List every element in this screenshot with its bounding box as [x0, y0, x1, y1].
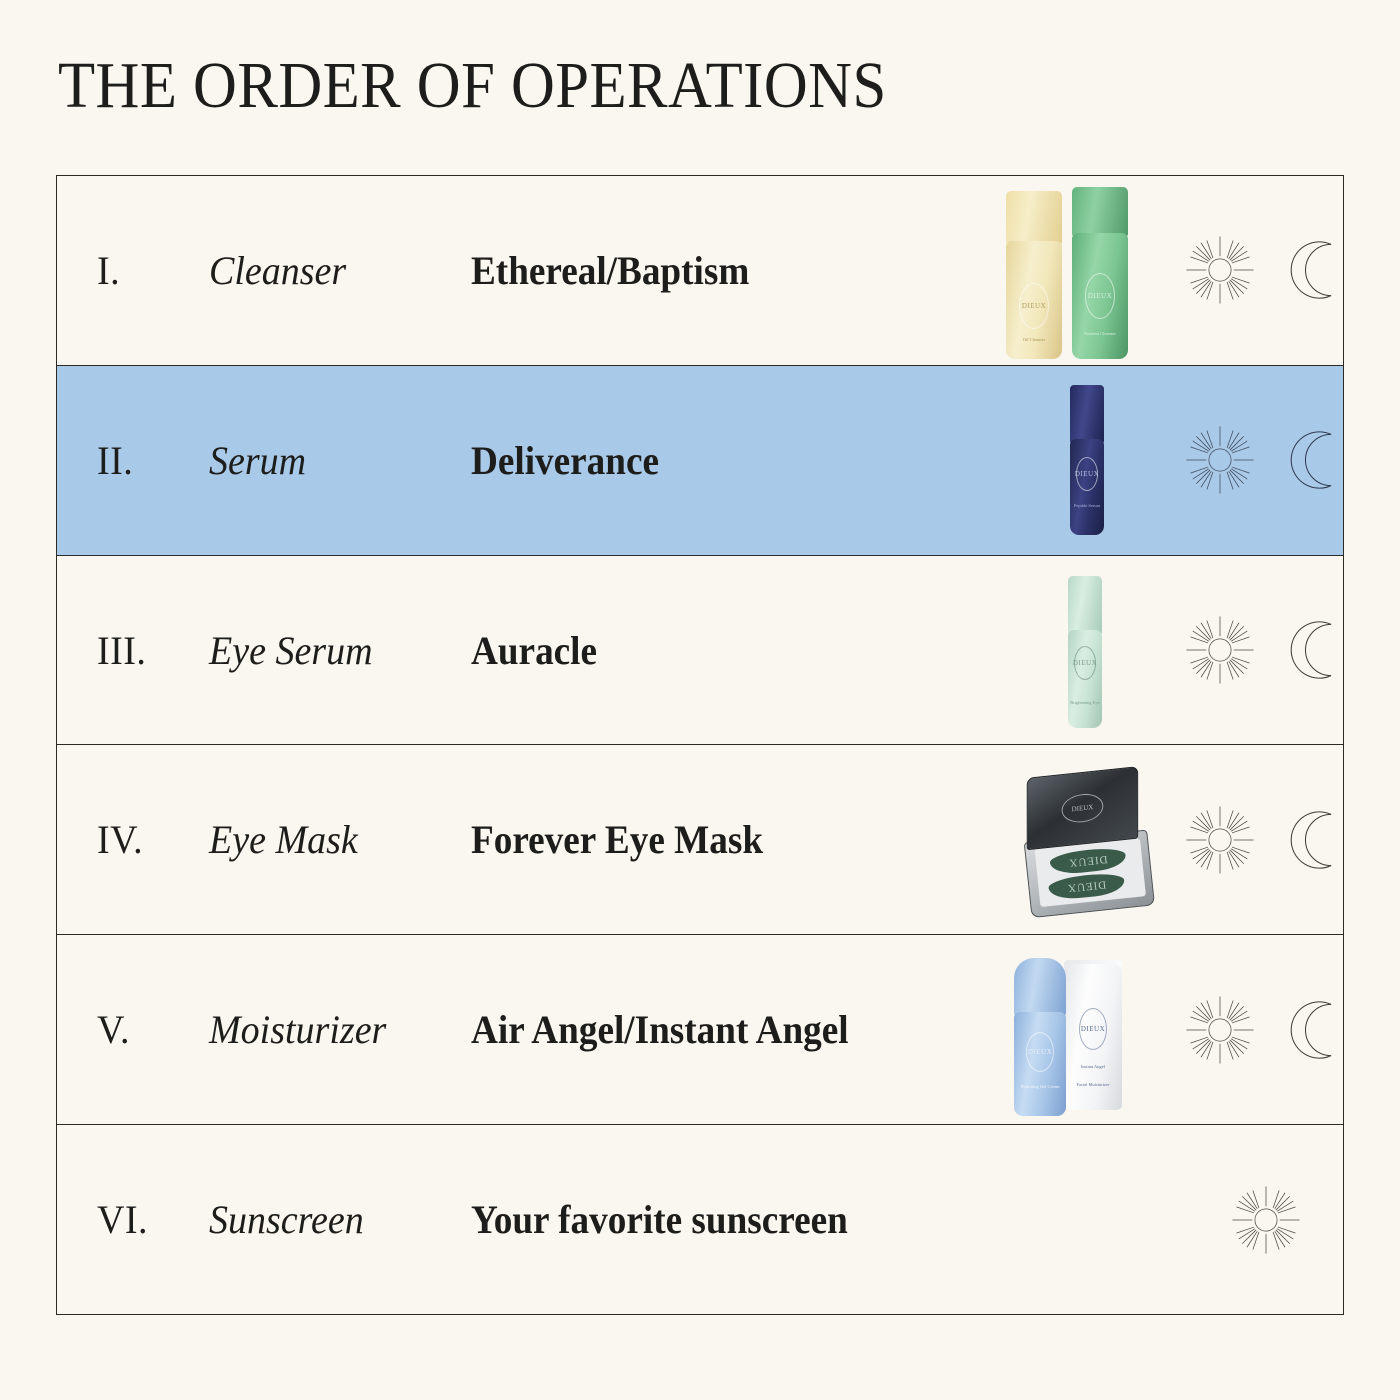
sun-icon: [1183, 803, 1257, 877]
row-product-name: Auracle: [471, 627, 992, 674]
sun-icon: [1229, 1183, 1303, 1257]
time-of-day-group: [1187, 1125, 1343, 1314]
table-row: IV. Eye Mask Forever Eye Mask DIEUX DIEU…: [57, 745, 1343, 935]
brand-logo: DIEUX: [1074, 646, 1096, 680]
eye-patch: DIEUX: [1049, 846, 1127, 876]
bottle-air-angel: DIEUX Hydrating Gel Cream: [1014, 958, 1066, 1116]
brand-logo: DIEUX: [1019, 283, 1049, 329]
eye-patch: DIEUX: [1048, 872, 1126, 902]
brand-logo: DIEUX: [1085, 273, 1115, 319]
brand-logo: DIEUX: [1076, 457, 1098, 491]
product-label-text: Facial Moisturizer: [1076, 1082, 1109, 1088]
moon-icon: [1285, 238, 1343, 302]
bottle-ethereal: DIEUX Oil Cleanser: [1006, 191, 1062, 359]
row-numeral: II.: [97, 437, 211, 484]
moon-icon: [1285, 998, 1343, 1062]
row-category: Sunscreen: [209, 1196, 494, 1243]
time-of-day-group: [1187, 745, 1343, 934]
product-image-serum: DIEUX Peptide Serum: [987, 366, 1187, 555]
time-of-day-group: [1187, 366, 1343, 555]
table-row: I. Cleanser Ethereal/Baptism DIEUX Oil C…: [57, 176, 1343, 366]
sun-icon: [1183, 993, 1257, 1067]
row-numeral: I.: [97, 247, 211, 294]
time-of-day-group: [1187, 556, 1343, 745]
row-product-name: Forever Eye Mask: [471, 816, 992, 863]
product-label-text: Oil Cleanser: [1023, 337, 1046, 343]
sun-icon: [1183, 423, 1257, 497]
product-image-moisturizer: DIEUX Instant Angel Facial Moisturizer D…: [987, 935, 1187, 1124]
routine-table: I. Cleanser Ethereal/Baptism DIEUX Oil C…: [56, 175, 1344, 1315]
product-label-text: Nutrient Cleanser: [1084, 331, 1116, 337]
brand-logo: DIEUX: [1062, 792, 1104, 825]
page-title: THE ORDER OF OPERATIONS: [58, 48, 887, 124]
moon-icon: [1285, 618, 1343, 682]
bottle-deliverance: DIEUX Peptide Serum: [1070, 385, 1104, 535]
bottle-auracle: DIEUX Brightening Eye: [1068, 576, 1102, 728]
row-category: Cleanser: [209, 247, 494, 294]
row-numeral: III.: [97, 627, 211, 674]
bottle-baptism: DIEUX Nutrient Cleanser: [1072, 187, 1128, 359]
row-numeral: V.: [97, 1006, 211, 1053]
row-category: Serum: [209, 437, 494, 484]
table-row: II. Serum Deliverance DIEUX Peptide Seru…: [57, 366, 1343, 556]
brand-logo: DIEUX: [1079, 1008, 1107, 1050]
row-numeral: IV.: [97, 816, 211, 863]
moon-icon: [1285, 808, 1343, 872]
row-product-name: Your favorite sunscreen: [471, 1196, 992, 1243]
brand-logo: DIEUX: [1026, 1032, 1054, 1072]
product-image-cleanser: DIEUX Oil Cleanser DIEUX Nutrient Cleans…: [987, 176, 1187, 365]
tube-instant-angel: DIEUX Instant Angel Facial Moisturizer: [1064, 960, 1122, 1110]
product-label-text: Instant Angel: [1081, 1064, 1105, 1070]
row-product-name: Deliverance: [471, 437, 992, 484]
product-label-text: Peptide Serum: [1074, 503, 1100, 509]
table-row: V. Moisturizer Air Angel/Instant Angel D…: [57, 935, 1343, 1125]
product-label-text: Brightening Eye: [1070, 700, 1100, 706]
table-row: III. Eye Serum Auracle DIEUX Brightening…: [57, 556, 1343, 746]
row-product-name: Ethereal/Baptism: [471, 247, 992, 294]
product-label-text: Hydrating Gel Cream: [1021, 1084, 1060, 1090]
sun-icon: [1183, 613, 1257, 687]
row-category: Moisturizer: [209, 1006, 494, 1053]
time-of-day-group: [1187, 176, 1343, 365]
product-image-eye-mask: DIEUX DIEUX DIEUX: [987, 745, 1187, 934]
moon-icon: [1285, 428, 1343, 492]
table-row: VI. Sunscreen Your favorite sunscreen: [57, 1125, 1343, 1314]
compact-forever-eye-mask: DIEUX DIEUX DIEUX: [1017, 766, 1155, 918]
row-numeral: VI.: [97, 1196, 211, 1243]
infographic-page: THE ORDER OF OPERATIONS I. Cleanser Ethe…: [0, 0, 1400, 1400]
row-product-name: Air Angel/Instant Angel: [471, 1006, 992, 1053]
time-of-day-group: [1187, 935, 1343, 1124]
row-category: Eye Mask: [209, 816, 494, 863]
row-category: Eye Serum: [209, 627, 494, 674]
product-image-eye-serum: DIEUX Brightening Eye: [987, 556, 1187, 745]
sun-icon: [1183, 233, 1257, 307]
